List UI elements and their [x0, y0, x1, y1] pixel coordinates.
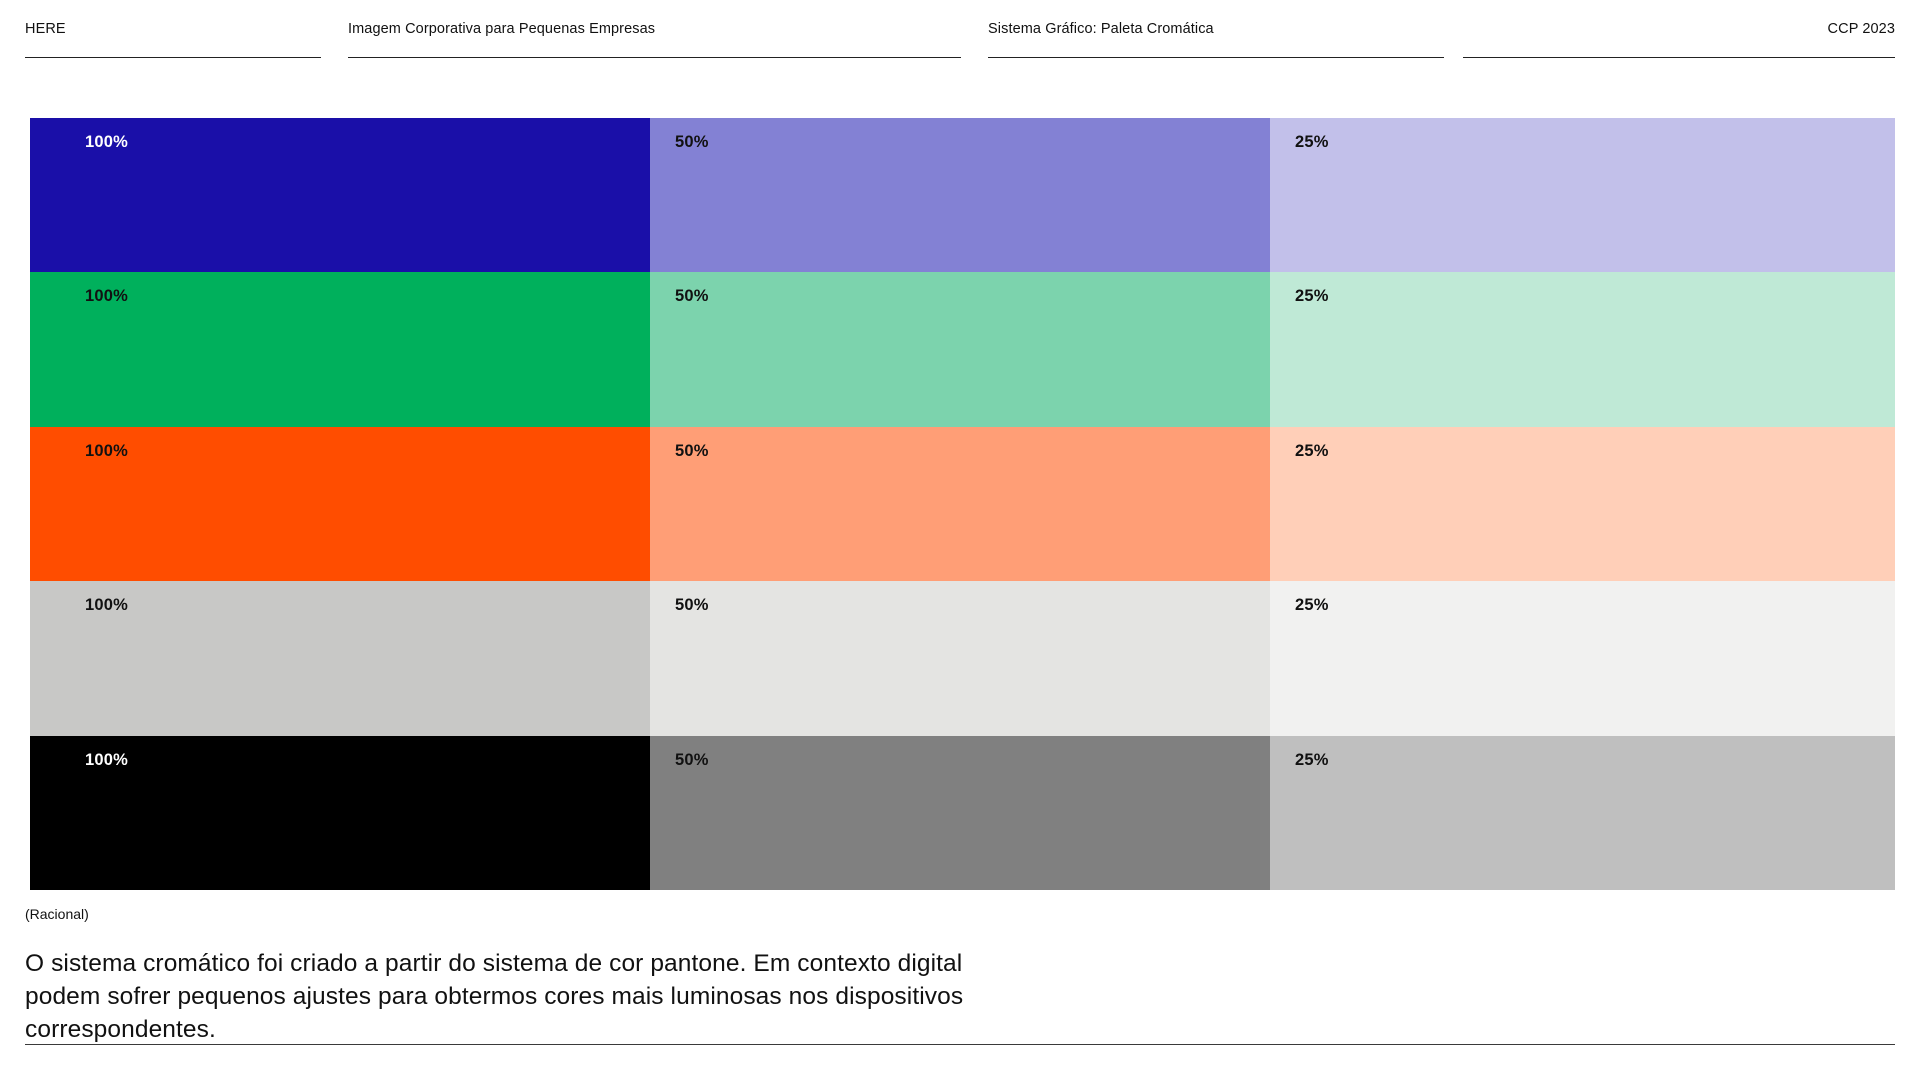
swatch-label: 100% — [85, 443, 128, 460]
swatch-label: 100% — [85, 134, 128, 151]
swatch-green-100: 100% — [30, 272, 650, 426]
swatch-black-50: 50% — [650, 736, 1270, 890]
palette-row-black: 100% 50% 25% — [30, 736, 1895, 890]
swatch-green-50: 50% — [650, 272, 1270, 426]
swatch-label: 25% — [1295, 443, 1329, 460]
swatch-green-25: 25% — [1270, 272, 1895, 426]
header-segment-project: Imagem Corporativa para Pequenas Empresa… — [348, 22, 961, 58]
swatch-label: 100% — [85, 752, 128, 769]
palette-row-blue: 100% 50% 25% — [30, 118, 1895, 272]
header-segment-reference: CCP 2023 — [1463, 22, 1895, 58]
page-header: HERE Imagem Corporativa para Pequenas Em… — [0, 0, 1920, 70]
swatch-label: 25% — [1295, 752, 1329, 769]
palette-row-green: 100% 50% 25% — [30, 272, 1895, 426]
footer-divider — [25, 1044, 1895, 1045]
swatch-blue-50: 50% — [650, 118, 1270, 272]
swatch-label: 100% — [85, 597, 128, 614]
header-reference-label: CCP 2023 — [1463, 22, 1895, 36]
swatch-label: 50% — [675, 443, 709, 460]
rationale-tag: (Racional) — [25, 905, 1895, 923]
header-segment-section: Sistema Gráfico: Paleta Cromática — [988, 22, 1444, 58]
swatch-gray-100: 100% — [30, 581, 650, 735]
swatch-label: 100% — [85, 288, 128, 305]
swatch-black-100: 100% — [30, 736, 650, 890]
swatch-label: 50% — [675, 288, 709, 305]
swatch-black-25: 25% — [1270, 736, 1895, 890]
swatch-label: 25% — [1295, 288, 1329, 305]
header-project-label: Imagem Corporativa para Pequenas Empresa… — [348, 22, 961, 36]
swatch-label: 25% — [1295, 597, 1329, 614]
header-brand-label: HERE — [25, 22, 321, 36]
swatch-label: 50% — [675, 134, 709, 151]
palette-row-orange: 100% 50% 25% — [30, 427, 1895, 581]
swatch-orange-100: 100% — [30, 427, 650, 581]
swatch-label: 50% — [675, 597, 709, 614]
header-segment-brand: HERE — [25, 22, 321, 58]
rationale-body: O sistema cromático foi criado a partir … — [25, 947, 985, 1046]
rationale-section: (Racional) O sistema cromático foi criad… — [25, 905, 1895, 1046]
swatch-label: 25% — [1295, 134, 1329, 151]
color-palette-grid: 100% 50% 25% 100% 50% 25% 100% 50% 25% — [30, 118, 1895, 890]
swatch-label: 50% — [675, 752, 709, 769]
swatch-blue-100: 100% — [30, 118, 650, 272]
swatch-orange-25: 25% — [1270, 427, 1895, 581]
swatch-gray-50: 50% — [650, 581, 1270, 735]
swatch-blue-25: 25% — [1270, 118, 1895, 272]
palette-row-gray: 100% 50% 25% — [30, 581, 1895, 735]
header-section-label: Sistema Gráfico: Paleta Cromática — [988, 22, 1444, 36]
swatch-orange-50: 50% — [650, 427, 1270, 581]
swatch-gray-25: 25% — [1270, 581, 1895, 735]
